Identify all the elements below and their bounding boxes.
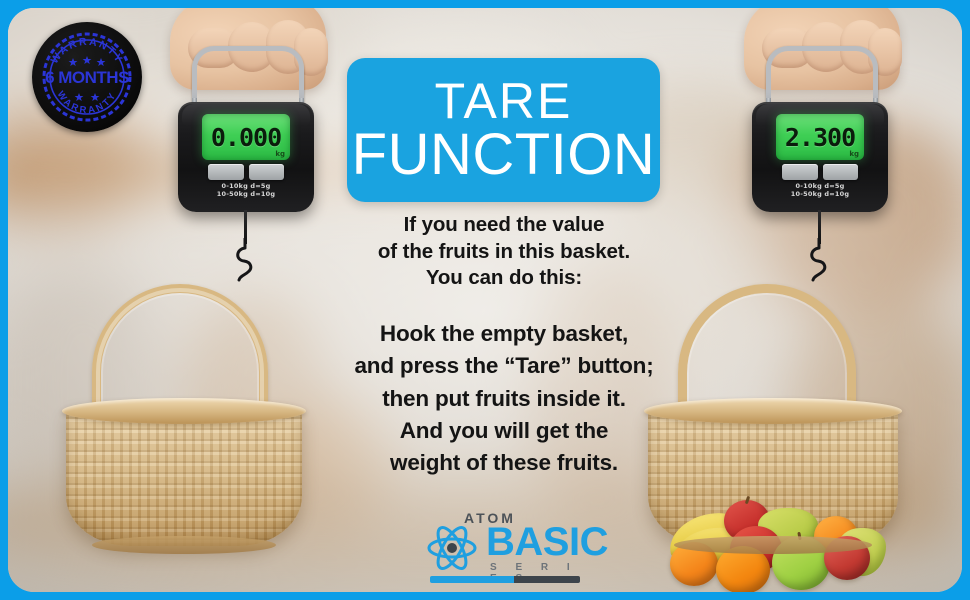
logo-product-text: BASIC — [486, 522, 608, 562]
scale-body-right: 2.300 kg 0-10kg d=5g 10-50kg d=10g — [752, 102, 888, 212]
warranty-badge: WARRANTY WARRANTY 6 MONTHS — [32, 22, 142, 132]
tare-button-right[interactable] — [782, 164, 818, 180]
intro-line-2: of the fruits in this basket. — [324, 239, 684, 266]
step-line-3: then put fruits inside it. — [324, 383, 684, 415]
basket-empty — [66, 284, 302, 552]
lcd-unit-right: kg — [849, 150, 859, 158]
warranty-stamp-icon: WARRANTY WARRANTY 6 MONTHS — [37, 27, 137, 127]
lcd-unit-left: kg — [275, 150, 285, 158]
paragraph-steps: Hook the empty basket, and press the “Ta… — [324, 318, 684, 480]
spec-line-1-right: 0-10kg d=5g — [752, 182, 888, 190]
spec-line-2-left: 10-50kg d=10g — [178, 190, 314, 198]
step-line-1: Hook the empty basket, — [324, 318, 684, 350]
intro-line-3: You can do this: — [324, 265, 684, 292]
spec-label-right: 0-10kg d=5g 10-50kg d=10g — [752, 182, 888, 198]
scale-hook-right — [806, 238, 832, 282]
title-banner: TARE FUNCTION — [347, 58, 660, 202]
scale-left: 0.000 kg 0-10kg d=5g 10-50kg d=10g — [156, 8, 336, 302]
intro-line-1: If you need the value — [324, 212, 684, 239]
scale-body-left: 0.000 kg 0-10kg d=5g 10-50kg d=10g — [178, 102, 314, 212]
paragraph-intro: If you need the value of the fruits in t… — [324, 212, 684, 292]
scale-right: 2.300 kg 0-10kg d=5g 10-50kg d=10g — [730, 8, 910, 302]
product-infographic: WARRANTY WARRANTY 6 MONTHS — [0, 0, 970, 600]
scale-hook-left — [232, 238, 258, 282]
power-button-left[interactable] — [249, 164, 285, 180]
spec-line-2-right: 10-50kg d=10g — [752, 190, 888, 198]
atom-icon — [426, 524, 478, 572]
scale-handle-left — [192, 46, 304, 108]
spec-label-left: 0-10kg d=5g 10-50kg d=10g — [178, 182, 314, 198]
lcd-value-right: 2.300 — [785, 125, 855, 150]
step-line-5: weight of these fruits. — [324, 447, 684, 479]
power-button-right[interactable] — [823, 164, 859, 180]
basket-bowl-left — [66, 406, 302, 546]
title-line-2: FUNCTION — [352, 126, 656, 184]
scale-buttons-left[interactable] — [208, 164, 284, 180]
warranty-main-text: 6 MONTHS — [45, 68, 129, 87]
lcd-display-right: 2.300 kg — [776, 114, 864, 160]
logo-bar — [430, 576, 580, 583]
spec-line-1-left: 0-10kg d=5g — [178, 182, 314, 190]
description-copy: If you need the value of the fruits in t… — [324, 212, 684, 480]
poster-stage: WARRANTY WARRANTY 6 MONTHS — [8, 8, 962, 592]
tare-button-left[interactable] — [208, 164, 244, 180]
basket-bowl-right — [648, 406, 898, 546]
step-line-4: And you will get the — [324, 415, 684, 447]
brand-logo: ATOM BASIC S E R I E S — [412, 510, 592, 582]
lcd-display-left: 0.000 kg — [202, 114, 290, 160]
scale-buttons-right[interactable] — [782, 164, 858, 180]
scale-handle-right — [766, 46, 878, 108]
lcd-value-left: 0.000 — [211, 125, 281, 150]
title-line-1: TARE — [435, 77, 573, 126]
step-line-2: and press the “Tare” button; — [324, 350, 684, 382]
basket-with-fruits — [648, 284, 898, 552]
